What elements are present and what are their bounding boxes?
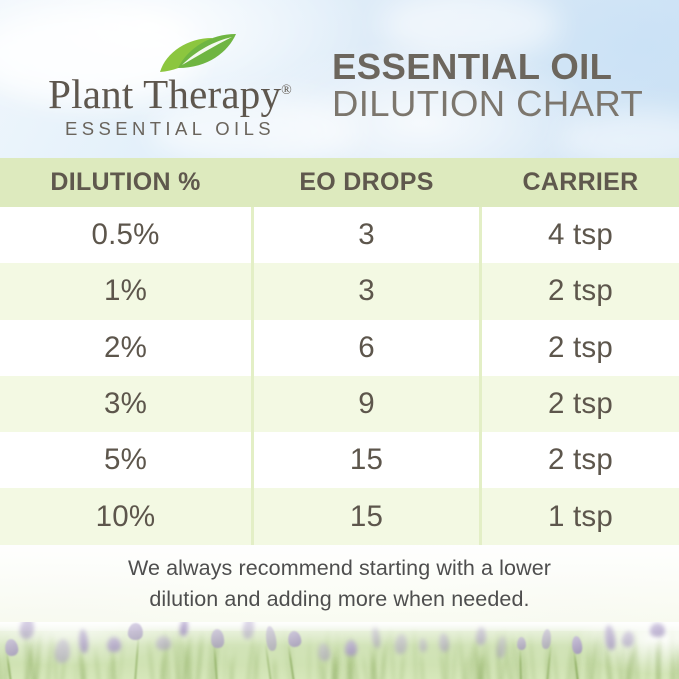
grass-blade [224, 642, 226, 679]
brand-tagline: ESSENTIAL OILS [40, 118, 300, 140]
table-row: 3% 9 2 tsp [0, 376, 679, 432]
title-line-1: ESSENTIAL OIL [332, 48, 652, 85]
recommendation-note-text: We always recommend starting with a lowe… [128, 553, 551, 614]
title-line-2: DILUTION CHART [332, 85, 652, 123]
cell-eo-drops: 15 [254, 432, 479, 488]
lavender-stem [350, 653, 352, 679]
lavender-bud [156, 636, 171, 650]
cell-dilution: 2% [0, 320, 251, 376]
table-row: 1% 3 2 tsp [0, 263, 679, 319]
dilution-chart-infographic: Plant Therapy® ESSENTIAL OILS ESSENTIAL … [0, 0, 679, 679]
cell-eo-drops: 3 [254, 263, 479, 319]
cell-dilution: 3% [0, 376, 251, 432]
lavender-bud [107, 637, 121, 652]
registered-mark: ® [281, 83, 292, 98]
dilution-table: DILUTION % EO DROPS CARRIER 0.5% 3 4 tsp… [0, 158, 679, 545]
lavender-bud [345, 640, 357, 656]
table-body: 0.5% 3 4 tsp 1% 3 2 tsp 2% 6 2 tsp [0, 207, 679, 545]
cell-carrier: 2 tsp [482, 432, 679, 488]
cell-dilution: 1% [0, 263, 251, 319]
lavender-bud [475, 627, 486, 646]
column-header-dilution: DILUTION % [0, 158, 251, 207]
column-header-eo-drops: EO DROPS [254, 158, 479, 207]
recommendation-note: We always recommend starting with a lowe… [0, 545, 679, 622]
column-divider [251, 207, 254, 545]
cell-carrier: 2 tsp [482, 320, 679, 376]
note-line-1: We always recommend starting with a lowe… [128, 553, 551, 584]
cell-carrier: 4 tsp [482, 207, 679, 263]
brand-name: Plant Therapy® [40, 70, 300, 118]
grass-blade [524, 648, 527, 679]
page-title: ESSENTIAL OIL DILUTION CHART [332, 48, 652, 124]
table-row: 5% 15 2 tsp [0, 432, 679, 488]
table-row: 10% 15 1 tsp [0, 488, 679, 544]
column-header-carrier: CARRIER [482, 158, 679, 207]
cell-dilution: 0.5% [0, 207, 251, 263]
cell-eo-drops: 9 [254, 376, 479, 432]
cell-eo-drops: 3 [254, 207, 479, 263]
grass-blade [108, 660, 111, 679]
grass-blade [75, 656, 78, 679]
cell-carrier: 2 tsp [482, 263, 679, 319]
lavender-bud [517, 636, 526, 650]
lavender-stem [163, 648, 165, 679]
lavender-field-photo [0, 622, 679, 679]
cell-carrier: 2 tsp [482, 376, 679, 432]
table-row: 2% 6 2 tsp [0, 320, 679, 376]
cell-dilution: 10% [0, 488, 251, 544]
lavender-bud [127, 623, 143, 641]
table-header-row: DILUTION % EO DROPS CARRIER [0, 158, 679, 207]
note-line-2: dilution and adding more when needed. [128, 584, 551, 615]
lavender-bud [650, 623, 665, 637]
table-row: 0.5% 3 4 tsp [0, 207, 679, 263]
column-divider [479, 207, 482, 545]
cell-carrier: 1 tsp [482, 488, 679, 544]
cell-dilution: 5% [0, 432, 251, 488]
cell-eo-drops: 6 [254, 320, 479, 376]
grass-blade [334, 659, 337, 679]
cell-eo-drops: 15 [254, 488, 479, 544]
brand-name-text: Plant Therapy [48, 71, 281, 117]
